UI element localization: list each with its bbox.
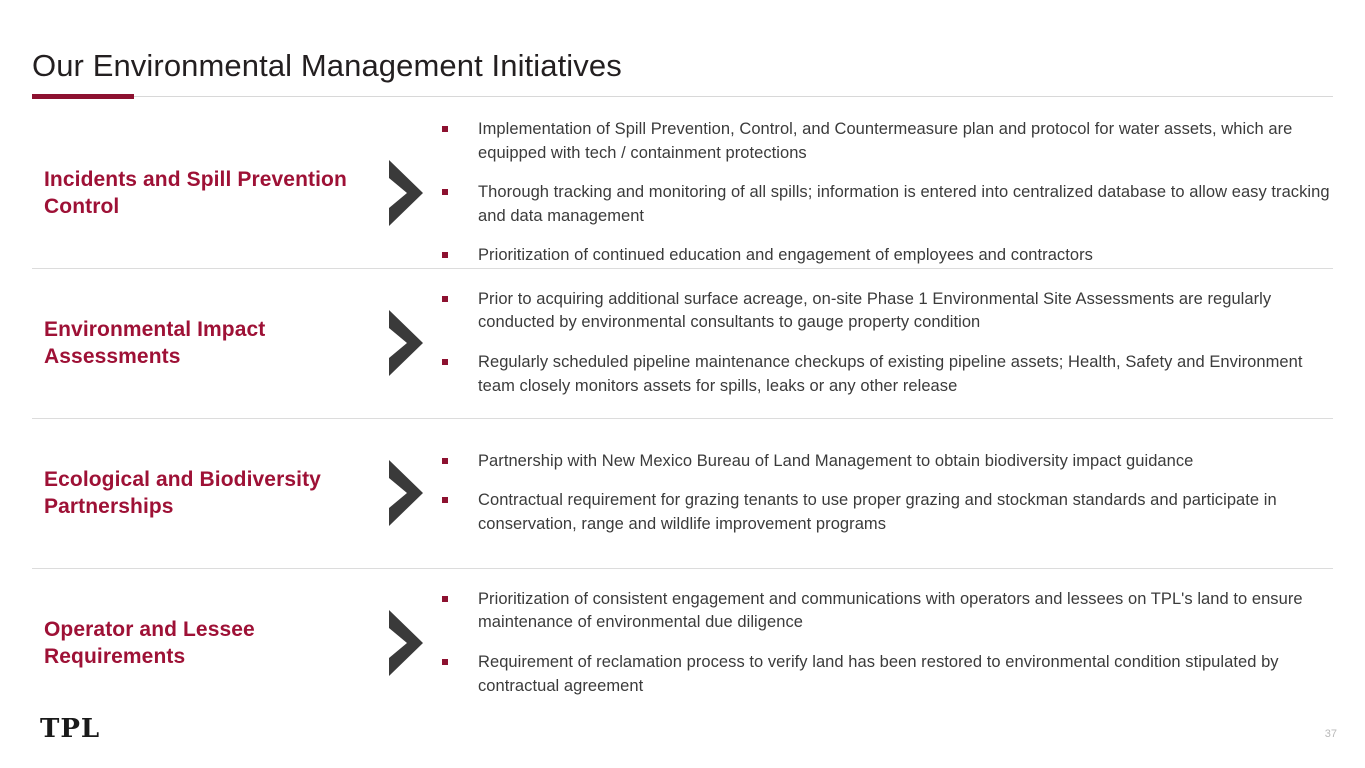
initiative-row: Ecological and Biodiversity Partnerships…: [0, 418, 1365, 568]
chevron-right-icon: [370, 460, 442, 526]
bullet-text: Regularly scheduled pipeline maintenance…: [478, 351, 1331, 398]
title-accent-bar: [32, 94, 134, 99]
initiative-heading: Operator and Lessee Requirements: [0, 616, 370, 671]
initiative-bullets: Implementation of Spill Prevention, Cont…: [442, 118, 1365, 268]
bullet-text: Implementation of Spill Prevention, Cont…: [478, 118, 1331, 165]
bullet-text: Prioritization of continued education an…: [478, 244, 1093, 268]
bullet-text: Requirement of reclamation process to ve…: [478, 651, 1331, 698]
bullet-item: Contractual requirement for grazing tena…: [442, 489, 1331, 536]
bullet-square-icon: [442, 126, 448, 132]
initiative-row: Incidents and Spill Prevention Control I…: [0, 118, 1365, 268]
bullet-item: Regularly scheduled pipeline maintenance…: [442, 351, 1331, 398]
bullet-item: Requirement of reclamation process to ve…: [442, 651, 1331, 698]
bullet-item: Prioritization of continued education an…: [442, 244, 1331, 268]
initiative-heading: Environmental Impact Assessments: [0, 316, 370, 371]
initiative-row: Operator and Lessee Requirements Priorit…: [0, 568, 1365, 718]
bullet-item: Thorough tracking and monitoring of all …: [442, 181, 1331, 228]
slide-canvas: Our Environmental Management Initiatives…: [0, 0, 1365, 768]
initiative-heading: Incidents and Spill Prevention Control: [0, 166, 370, 221]
bullet-text: Partnership with New Mexico Bureau of La…: [478, 450, 1193, 474]
bullet-text: Prior to acquiring additional surface ac…: [478, 288, 1331, 335]
row-divider: [32, 568, 1333, 569]
initiative-bullets: Partnership with New Mexico Bureau of La…: [442, 450, 1365, 537]
title-underline-rule: [32, 96, 1333, 97]
bullet-item: Implementation of Spill Prevention, Cont…: [442, 118, 1331, 165]
bullet-square-icon: [442, 296, 448, 302]
initiative-row: Environmental Impact Assessments Prior t…: [0, 268, 1365, 418]
bullet-item: Prior to acquiring additional surface ac…: [442, 288, 1331, 335]
bullet-square-icon: [442, 252, 448, 258]
initiative-bullets: Prioritization of consistent engagement …: [442, 588, 1365, 698]
initiative-bullets: Prior to acquiring additional surface ac…: [442, 288, 1365, 398]
bullet-square-icon: [442, 659, 448, 665]
chevron-right-icon: [370, 610, 442, 676]
bullet-item: Prioritization of consistent engagement …: [442, 588, 1331, 635]
chevron-right-icon: [370, 160, 442, 226]
tpl-logo: TPL: [40, 714, 100, 744]
bullet-text: Prioritization of consistent engagement …: [478, 588, 1331, 635]
bullet-square-icon: [442, 359, 448, 365]
bullet-square-icon: [442, 497, 448, 503]
bullet-text: Thorough tracking and monitoring of all …: [478, 181, 1331, 228]
bullet-text: Contractual requirement for grazing tena…: [478, 489, 1331, 536]
initiative-heading: Ecological and Biodiversity Partnerships: [0, 466, 370, 521]
bullet-square-icon: [442, 458, 448, 464]
initiatives-list: Incidents and Spill Prevention Control I…: [0, 118, 1365, 718]
bullet-square-icon: [442, 189, 448, 195]
row-divider: [32, 418, 1333, 419]
page-number: 37: [1325, 728, 1337, 740]
page-title: Our Environmental Management Initiatives: [32, 48, 1333, 84]
chevron-right-icon: [370, 310, 442, 376]
row-divider: [32, 268, 1333, 269]
title-block: Our Environmental Management Initiatives: [32, 48, 1333, 97]
bullet-item: Partnership with New Mexico Bureau of La…: [442, 450, 1331, 474]
bullet-square-icon: [442, 596, 448, 602]
